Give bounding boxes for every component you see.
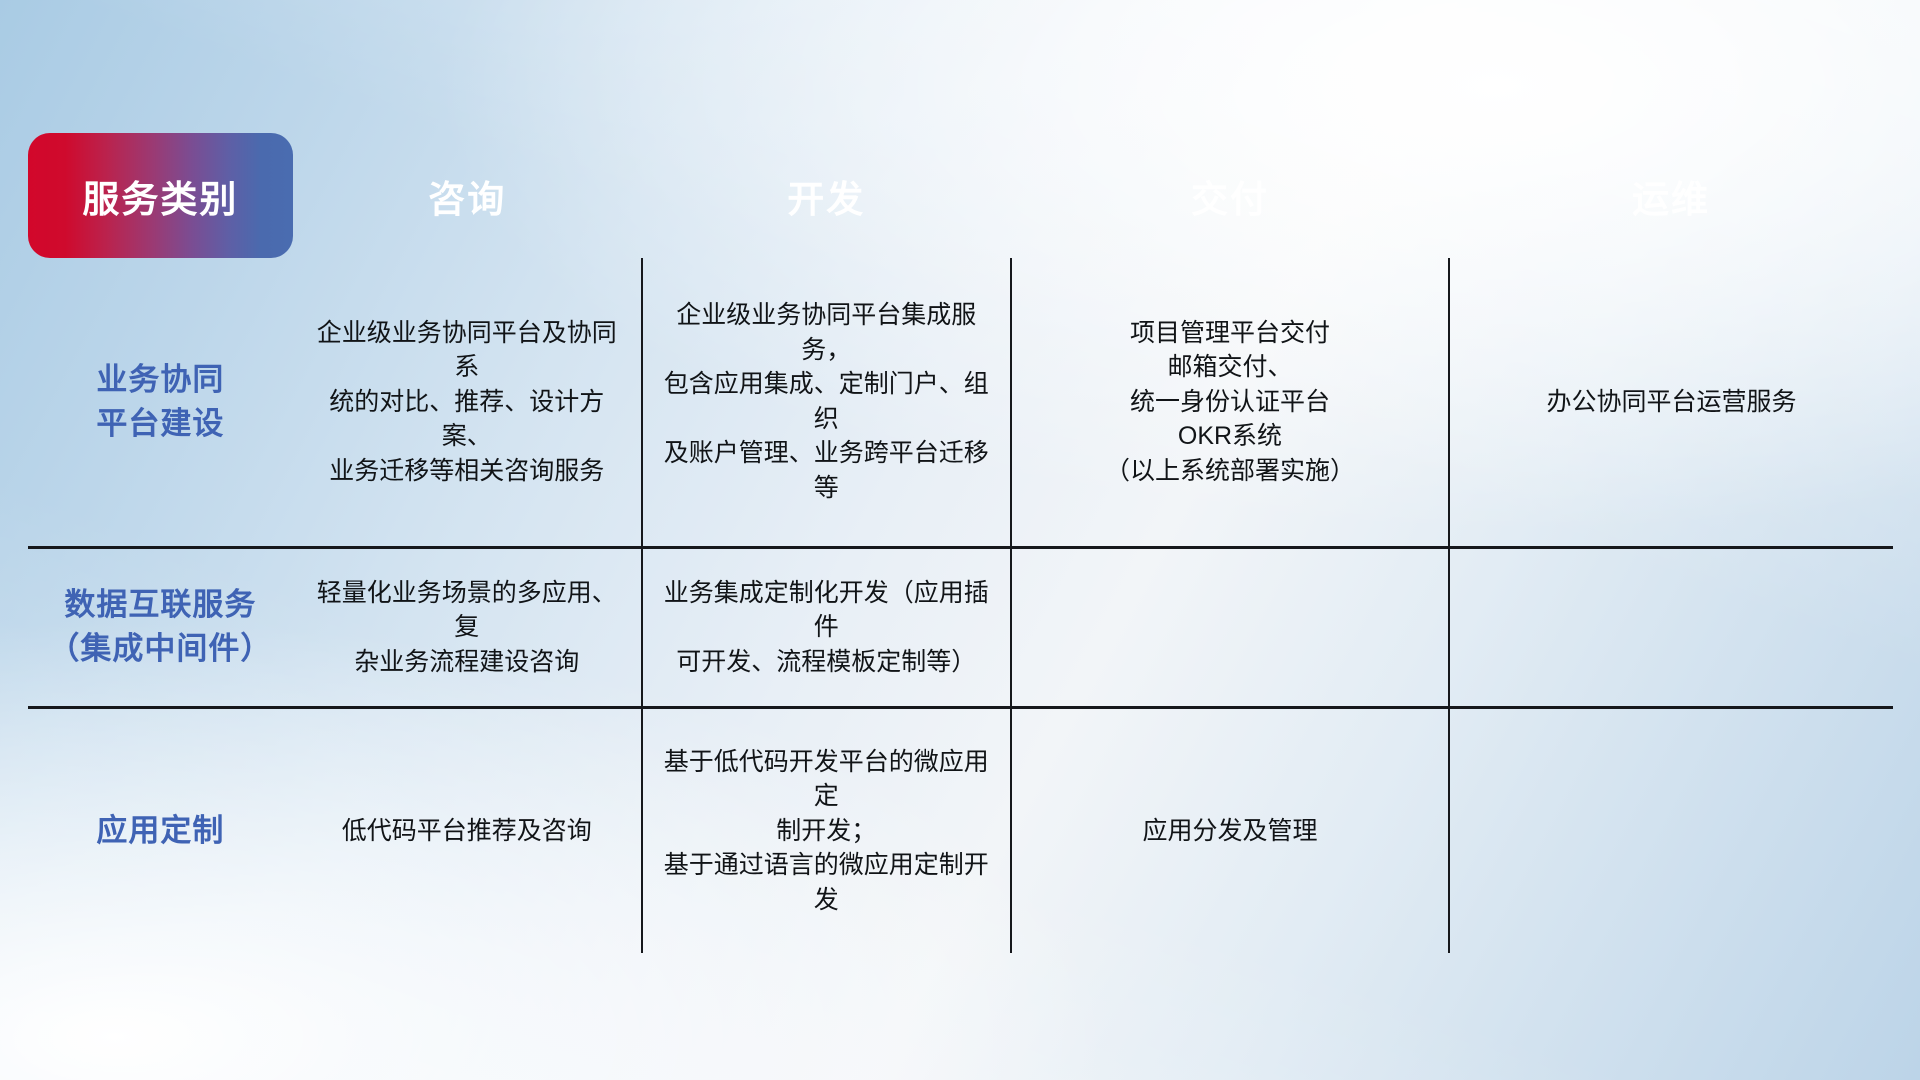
table-row: 应用定制 低代码平台推荐及咨询 基于低代码开发平台的微应用定制开发；基于通过语言…	[28, 707, 1893, 953]
cell-line: 邮箱交付、	[1026, 350, 1434, 385]
cell-line: 应用分发及管理	[1026, 814, 1434, 849]
cell-line: 办公协同平台运营服务	[1464, 385, 1879, 420]
cell-line: 低代码平台推荐及咨询	[307, 814, 627, 849]
header-cell-service-category: 服务类别	[28, 133, 293, 258]
cell-line: 制开发；	[657, 814, 996, 849]
cell-line: 数据互联服务	[42, 583, 279, 627]
cell-line: 杂业务流程建设咨询	[307, 645, 627, 680]
cell-development-row2: 业务集成定制化开发（应用插件可开发、流程模板定制等）	[642, 547, 1011, 707]
cell-development-row3: 基于低代码开发平台的微应用定制开发；基于通过语言的微应用定制开发	[642, 707, 1011, 953]
table-body: 业务协同平台建设 企业级业务协同平台及协同系统的对比、推荐、设计方案、业务迁移等…	[28, 258, 1893, 953]
cell-operations-row1: 办公协同平台运营服务	[1449, 258, 1893, 547]
cell-line: 项目管理平台交付	[1026, 316, 1434, 351]
cell-line: 轻量化业务场景的多应用、复	[307, 576, 627, 645]
cell-line: （集成中间件）	[42, 627, 279, 671]
cell-development-row1: 企业级业务协同平台集成服务，包含应用集成、定制门户、组织及账户管理、业务跨平台迁…	[642, 258, 1011, 547]
cell-line: 基于低代码开发平台的微应用定	[657, 745, 996, 814]
header-cell-delivery: 交付	[1011, 133, 1449, 258]
cell-line: 企业级业务协同平台及协同系	[307, 316, 627, 385]
header-label-consulting: 咨询	[293, 169, 642, 223]
cell-line: 可开发、流程模板定制等）	[657, 645, 996, 680]
cell-consulting-row2: 轻量化业务场景的多应用、复杂业务流程建设咨询	[293, 547, 642, 707]
row-label-application-customization: 应用定制	[28, 707, 293, 953]
header-label-delivery: 交付	[1011, 169, 1449, 223]
cell-line: 业务协同	[42, 358, 279, 402]
cell-delivery-row2	[1011, 547, 1449, 707]
cell-line: 包含应用集成、定制门户、组织	[657, 367, 996, 436]
slide-canvas: 服务类别 咨询 开发 交付 运维	[0, 0, 1920, 1080]
header-cell-development: 开发	[642, 133, 1011, 258]
cell-line: 统一身份认证平台	[1026, 385, 1434, 420]
cell-consulting-row1: 企业级业务协同平台及协同系统的对比、推荐、设计方案、业务迁移等相关咨询服务	[293, 258, 642, 547]
header-label-service-category: 服务类别	[28, 169, 293, 223]
cell-line: 基于通过语言的微应用定制开发	[657, 848, 996, 917]
header-label-operations: 运维	[1449, 169, 1893, 223]
cell-line: 业务迁移等相关咨询服务	[307, 454, 627, 489]
cell-line: 企业级业务协同平台集成服务，	[657, 298, 996, 367]
cell-line: 业务集成定制化开发（应用插件	[657, 576, 996, 645]
cell-line: 平台建设	[42, 402, 279, 446]
cell-line: OKR系统	[1026, 419, 1434, 454]
matrix: 服务类别 咨询 开发 交付 运维	[28, 133, 1893, 953]
header-label-development: 开发	[642, 169, 1011, 223]
table-row: 业务协同平台建设 企业级业务协同平台及协同系统的对比、推荐、设计方案、业务迁移等…	[28, 258, 1893, 547]
row-label-business-collaboration: 业务协同平台建设	[28, 258, 293, 547]
cell-operations-row2	[1449, 547, 1893, 707]
table-row: 数据互联服务（集成中间件） 轻量化业务场景的多应用、复杂业务流程建设咨询 业务集…	[28, 547, 1893, 707]
service-matrix-table: 服务类别 咨询 开发 交付 运维	[28, 133, 1893, 953]
cell-operations-row3	[1449, 707, 1893, 953]
table-header: 服务类别 咨询 开发 交付 运维	[28, 133, 1893, 258]
cell-line: 统的对比、推荐、设计方案、	[307, 385, 627, 454]
header-cell-operations: 运维	[1449, 133, 1893, 258]
cell-delivery-row1: 项目管理平台交付邮箱交付、统一身份认证平台OKR系统（以上系统部署实施）	[1011, 258, 1449, 547]
cell-delivery-row3: 应用分发及管理	[1011, 707, 1449, 953]
cell-line: （以上系统部署实施）	[1026, 454, 1434, 489]
header-cell-consulting: 咨询	[293, 133, 642, 258]
cell-consulting-row3: 低代码平台推荐及咨询	[293, 707, 642, 953]
header-row: 服务类别 咨询 开发 交付 运维	[28, 133, 1893, 258]
cell-line: 及账户管理、业务跨平台迁移等	[657, 436, 996, 505]
cell-line: 应用定制	[42, 809, 279, 853]
row-label-data-interconnect: 数据互联服务（集成中间件）	[28, 547, 293, 707]
